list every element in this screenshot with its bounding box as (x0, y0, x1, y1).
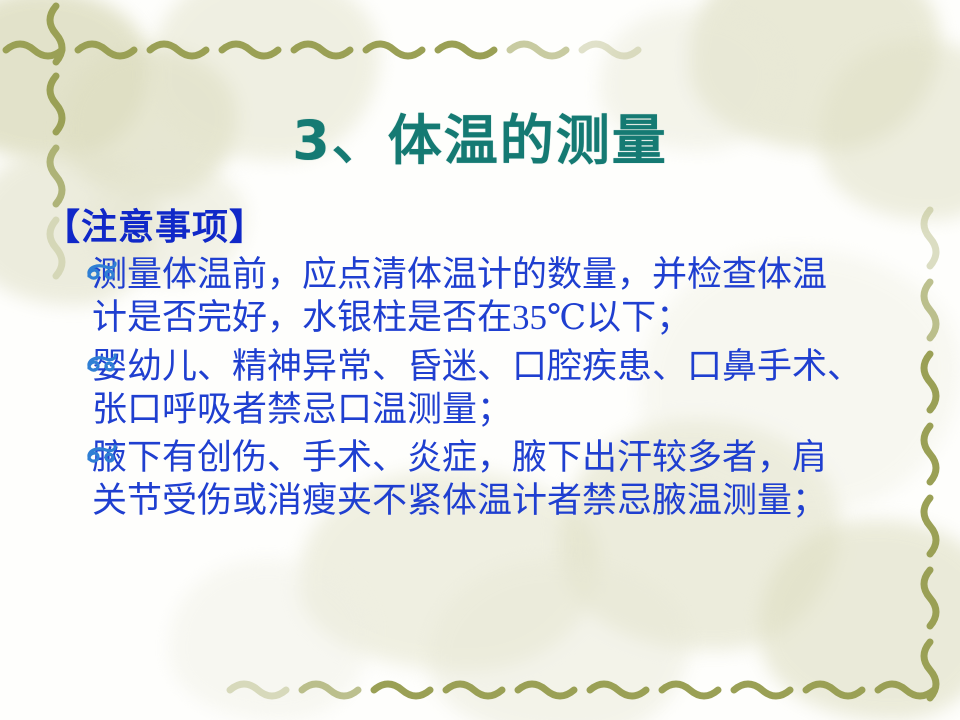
leaf-watermark-shape (430, 560, 690, 720)
list-item-line: 关节受伤或消瘦夹不紧体温计者禁忌腋温测量； (92, 480, 934, 523)
list-item-line: 婴幼儿、精神异常、昏迷、口腔疾患、口鼻手术、 (92, 346, 934, 389)
list-item-line: 腋下有创伤、手术、炎症，腋下出汗较多者，肩 (92, 437, 934, 480)
slide-title: 3、体温的测量 (0, 96, 960, 175)
flourish-bullet-icon (86, 352, 118, 378)
list-item: 婴幼儿、精神异常、昏迷、口腔疾患、口鼻手术、 张口呼吸者禁忌口温测量； (44, 346, 934, 431)
list-item: 腋下有创伤、手术、炎症，腋下出汗较多者，肩 关节受伤或消瘦夹不紧体温计者禁忌腋温… (44, 437, 934, 522)
leaf-watermark-shape (760, 520, 960, 720)
flourish-bullet-icon (86, 260, 118, 286)
section-heading: 【注意事项】 (44, 206, 934, 248)
flourish-bullet-icon (86, 443, 118, 469)
list-item-line: 张口呼吸者禁忌口温测量； (92, 389, 934, 432)
list-item-line: 测量体温前，应点清体温计的数量，并检查体温 (92, 254, 934, 297)
list-item-text: 测量体温前，应点清体温计的数量，并检查体温 计是否完好，水银柱是否在35℃以下； (92, 254, 934, 339)
slide-body: 【注意事项】 测量体温前，应点清体温计的数量，并检查体温 计是否完好，水银柱是否… (44, 206, 934, 529)
slide-canvas: 3、体温的测量 【注意事项】 测量体温前，应点清体温计的数量，并检查体温 计是否… (0, 0, 960, 720)
list-item: 测量体温前，应点清体温计的数量，并检查体温 计是否完好，水银柱是否在35℃以下； (44, 254, 934, 339)
notes-bullet-list: 测量体温前，应点清体温计的数量，并检查体温 计是否完好，水银柱是否在35℃以下；… (44, 254, 934, 522)
list-item-text: 腋下有创伤、手术、炎症，腋下出汗较多者，肩 关节受伤或消瘦夹不紧体温计者禁忌腋温… (92, 437, 934, 522)
list-item-text: 婴幼儿、精神异常、昏迷、口腔疾患、口鼻手术、 张口呼吸者禁忌口温测量； (92, 346, 934, 431)
leaf-watermark-shape (170, 560, 370, 720)
list-item-line: 计是否完好，水银柱是否在35℃以下； (92, 297, 934, 340)
